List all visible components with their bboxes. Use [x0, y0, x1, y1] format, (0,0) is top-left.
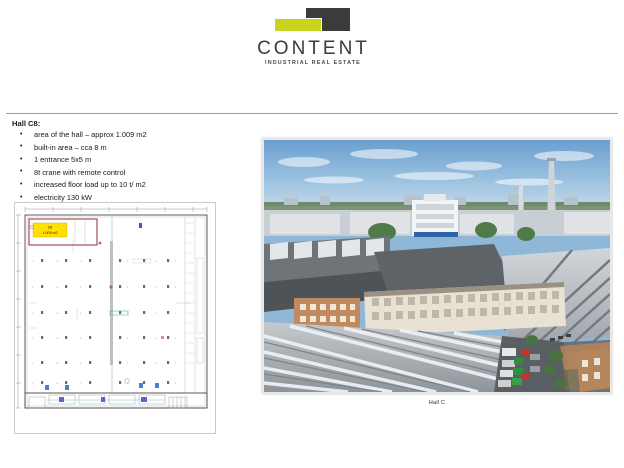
brand-logo: CONTENT INDUSTRIAL REAL ESTATE	[0, 8, 624, 66]
logo-wordmark: CONTENT	[254, 39, 370, 59]
list-item: increased floor load up to 10 t/ m2	[12, 181, 238, 188]
page-title: Hall C8:	[12, 119, 238, 128]
floor-plan-drawing: 1+62 2+63 1+64 1+65 1296 1+67 361 361 36…	[14, 202, 216, 434]
site-photo	[262, 138, 612, 394]
hall-specification: Hall C8: area of the hall – approx 1.009…	[12, 119, 238, 207]
list-item: area of the hall – approx 1.009 m2	[12, 131, 238, 138]
list-item: 1 entrance 5x5 m	[12, 156, 238, 163]
photo-caption: Hall C	[262, 400, 612, 406]
header-divider	[6, 113, 618, 114]
floorplan-highlight-label-code: C8	[48, 226, 53, 230]
floorplan-highlight-label-area: 1.009 m2	[43, 231, 58, 235]
logo-mark-icon	[274, 8, 350, 38]
spec-list: area of the hall – approx 1.009 m2 built…	[12, 131, 238, 201]
list-item: electricity 130 kW	[12, 194, 238, 201]
logo-accent-rectangle	[274, 18, 322, 32]
logo-tagline: INDUSTRIAL REAL ESTATE	[263, 60, 361, 66]
list-item: 8t crane with remote control	[12, 169, 238, 176]
list-item: built-in area – cca 8 m	[12, 144, 238, 151]
